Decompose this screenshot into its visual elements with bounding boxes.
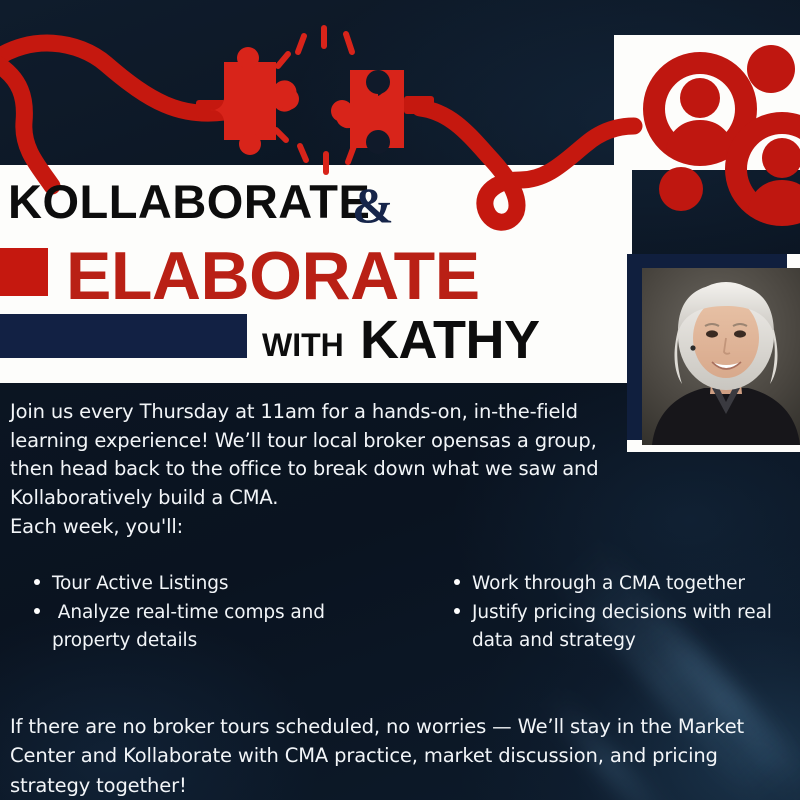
red-cable-right [420, 108, 634, 222]
red-cable-left-tail [0, 62, 52, 186]
red-cable-left [0, 43, 225, 113]
list-item: Tour Active Listings [26, 570, 406, 597]
footer-copy: If there are no broker tours scheduled, … [10, 712, 798, 800]
headline-ampersand: & [352, 176, 394, 234]
intro-copy: Join us every Thursday at 11am for a han… [10, 398, 600, 541]
cable-connector-right [404, 96, 434, 114]
puzzle-piece-right-icon [331, 70, 404, 154]
photo-frame [627, 254, 800, 452]
list-item: Analyze real-time comps and property det… [26, 599, 406, 654]
intro-paragraph-1: Join us every Thursday at 11am for a han… [10, 398, 600, 513]
headline-with-word: WITH [262, 329, 344, 361]
list-item: Work through a CMA together [446, 570, 800, 597]
red-square-accent [0, 248, 48, 296]
navy-bar-accent [0, 314, 247, 358]
headline-line2: ELABORATE [66, 242, 480, 310]
poster-canvas: KOLLABORATE & ELABORATE WITH KATHY [0, 0, 800, 800]
kathy-headshot [642, 268, 800, 445]
headline-line1: KOLLABORATE [8, 178, 370, 225]
list-item: Justify pricing decisions with real data… [446, 599, 800, 654]
bullet-list-left: Tour Active Listings Analyze real-time c… [26, 570, 406, 656]
intro-paragraph-2: Each week, you'll: [10, 513, 600, 542]
bullet-list-right: Work through a CMA together Justify pric… [446, 570, 800, 656]
headline-name: KATHY [360, 313, 540, 367]
people-network-icon [643, 45, 800, 226]
